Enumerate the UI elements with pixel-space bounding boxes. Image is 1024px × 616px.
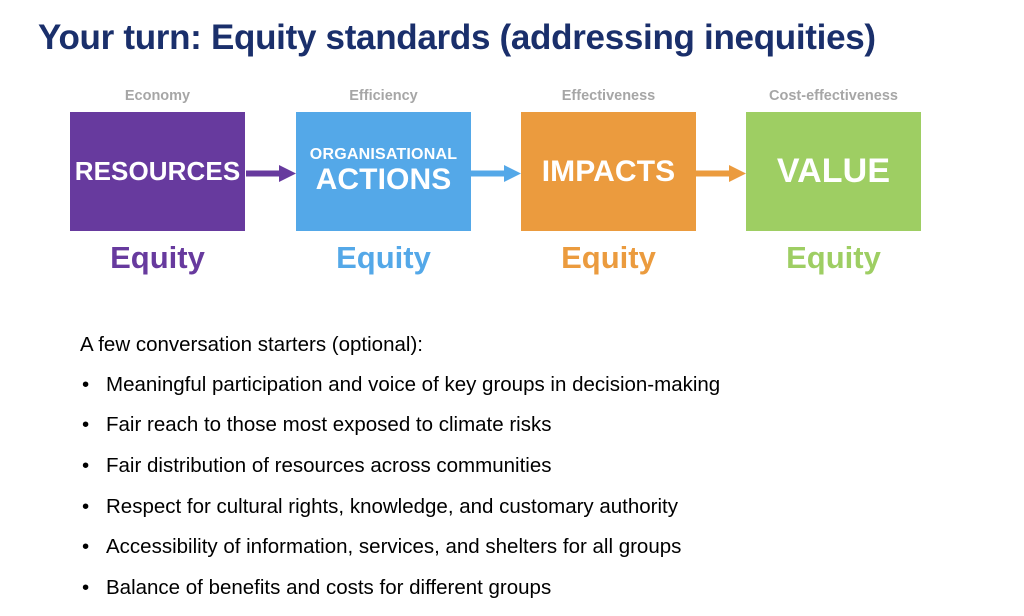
equity-label-efficiency: Equity — [266, 240, 501, 276]
stage-caption-effectiveness: Effectiveness — [491, 88, 726, 104]
list-item: • Meaningful participation and voice of … — [80, 372, 980, 399]
bullet-dot-icon: • — [82, 575, 89, 602]
list-item: • Fair distribution of resources across … — [80, 453, 980, 480]
chain-stage-resources: Economy RESOURCES Equity — [70, 112, 245, 231]
conversation-starters-block: A few conversation starters (optional): … — [80, 330, 980, 616]
list-item: • Fair reach to those most exposed to cl… — [80, 412, 980, 439]
list-item-text: Accessibility of information, services, … — [106, 535, 681, 558]
bullet-dot-icon: • — [82, 372, 89, 399]
list-item: • Accessibility of information, services… — [80, 534, 980, 561]
equity-label-economy: Equity — [40, 240, 275, 276]
bullet-dot-icon: • — [82, 534, 89, 561]
equity-label-effectiveness: Equity — [491, 240, 726, 276]
stage-box-label-resources: RESOURCES — [75, 157, 241, 186]
stage-box-value[interactable]: VALUE — [746, 112, 921, 231]
conversation-starters-list: • Meaningful participation and voice of … — [80, 372, 980, 602]
stage-box-resources[interactable]: RESOURCES — [70, 112, 245, 231]
stage-box-impacts[interactable]: IMPACTS — [521, 112, 696, 231]
list-item-text: Fair distribution of resources across co… — [106, 454, 551, 477]
stage-caption-cost-effectiveness: Cost-effectiveness — [716, 88, 951, 104]
conversation-starters-intro: A few conversation starters (optional): — [80, 330, 980, 361]
list-item: • Respect for cultural rights, knowledge… — [80, 494, 980, 521]
bullet-dot-icon: • — [82, 453, 89, 480]
chain-stage-organisational-actions: Efficiency ORGANISATIONAL ACTIONS Equity — [296, 112, 471, 231]
list-item-text: Balance of benefits and costs for differ… — [106, 576, 551, 599]
stage-box-organisational-actions[interactable]: ORGANISATIONAL ACTIONS — [296, 112, 471, 231]
stage-box-label-organisational: ORGANISATIONAL — [310, 147, 457, 164]
stage-caption-efficiency: Efficiency — [266, 88, 501, 104]
chain-stage-impacts: Effectiveness IMPACTS Equity — [521, 112, 696, 231]
list-item-text: Respect for cultural rights, knowledge, … — [106, 495, 678, 518]
equity-label-cost-effectiveness: Equity — [716, 240, 951, 276]
arrow-right-icon-3 — [696, 165, 746, 182]
stage-box-label-impacts: IMPACTS — [542, 155, 675, 188]
list-item-text: Fair reach to those most exposed to clim… — [106, 413, 552, 436]
arrow-right-icon-2 — [471, 165, 521, 182]
list-item-text: Meaningful participation and voice of ke… — [106, 373, 720, 396]
bullet-dot-icon: • — [82, 494, 89, 521]
chain-stage-value: Cost-effectiveness VALUE Equity — [746, 112, 921, 231]
stage-box-label-actions: ACTIONS — [316, 163, 452, 196]
stage-caption-economy: Economy — [40, 88, 275, 104]
arrow-right-icon-1 — [246, 165, 296, 182]
results-chain-diagram: Economy RESOURCES Equity Efficiency ORGA… — [0, 0, 1024, 300]
list-item: • Balance of benefits and costs for diff… — [80, 575, 980, 602]
bullet-dot-icon: • — [82, 412, 89, 439]
stage-box-label-value: VALUE — [777, 153, 890, 190]
